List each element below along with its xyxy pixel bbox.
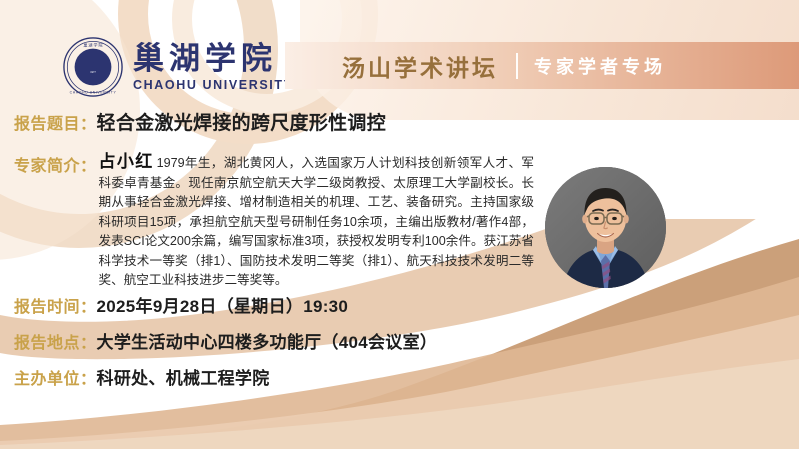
chaohu-university-seal-icon: 巢 湖 学 院 CHAOHU UNIVERSITY 1977 <box>62 36 124 98</box>
university-logo-block: 巢 湖 学 院 CHAOHU UNIVERSITY 1977 巢湖学院 CHAO… <box>62 36 294 98</box>
university-name-cn: 巢湖学院 <box>133 43 294 74</box>
talk-title-value: 轻合金激光焊接的跨尺度形性调控 <box>97 108 387 135</box>
talk-place-value: 大学生活动中心四楼多功能厅（404会议室） <box>97 328 438 353</box>
forum-banner: 汤山学术讲坛 专家学者专场 <box>285 42 799 89</box>
svg-text:巢 湖 学 院: 巢 湖 学 院 <box>83 42 102 48</box>
university-name-en: CHAOHU UNIVERSITY <box>133 79 294 92</box>
speaker-bio-label: 专家简介： <box>14 152 97 176</box>
speaker-portrait <box>545 167 666 288</box>
talk-time-row: 报告时间： 2025年9月28日（星期日）19:30 <box>14 292 348 317</box>
talk-title-row: 报告题目： 轻合金激光焊接的跨尺度形性调控 <box>14 108 386 135</box>
speaker-portrait-image <box>545 167 666 288</box>
speaker-name: 占小红 <box>99 152 154 171</box>
poster-canvas: 巢 湖 学 院 CHAOHU UNIVERSITY 1977 巢湖学院 CHAO… <box>0 0 799 449</box>
forum-banner-subtitle: 专家学者专场 <box>534 53 666 79</box>
speaker-bio-row: 专家简介： 占小红1979年生，湖北黄冈人，入选国家万人计划科技创新领军人才、军… <box>14 152 534 291</box>
talk-time-label: 报告时间： <box>14 293 97 317</box>
speaker-bio-body: 占小红1979年生，湖北黄冈人，入选国家万人计划科技创新领军人才、军科委卓青基金… <box>99 152 534 291</box>
banner-divider <box>516 53 518 79</box>
talk-host-row: 主办单位： 科研处、机械工程学院 <box>14 364 270 389</box>
speaker-bio-text: 1979年生，湖北黄冈人，入选国家万人计划科技创新领军人才、军科委卓青基金。现任… <box>99 156 534 287</box>
talk-place-row: 报告地点： 大学生活动中心四楼多功能厅（404会议室） <box>14 328 437 353</box>
talk-time-value: 2025年9月28日（星期日）19:30 <box>97 292 349 317</box>
talk-title-label: 报告题目： <box>14 110 97 134</box>
talk-host-value: 科研处、机械工程学院 <box>97 364 270 389</box>
svg-text:CHAOHU UNIVERSITY: CHAOHU UNIVERSITY <box>70 91 117 95</box>
talk-place-label: 报告地点： <box>14 329 97 353</box>
talk-host-label: 主办单位： <box>14 365 97 389</box>
forum-banner-title: 汤山学术讲坛 <box>342 49 498 83</box>
svg-text:1977: 1977 <box>90 71 96 74</box>
